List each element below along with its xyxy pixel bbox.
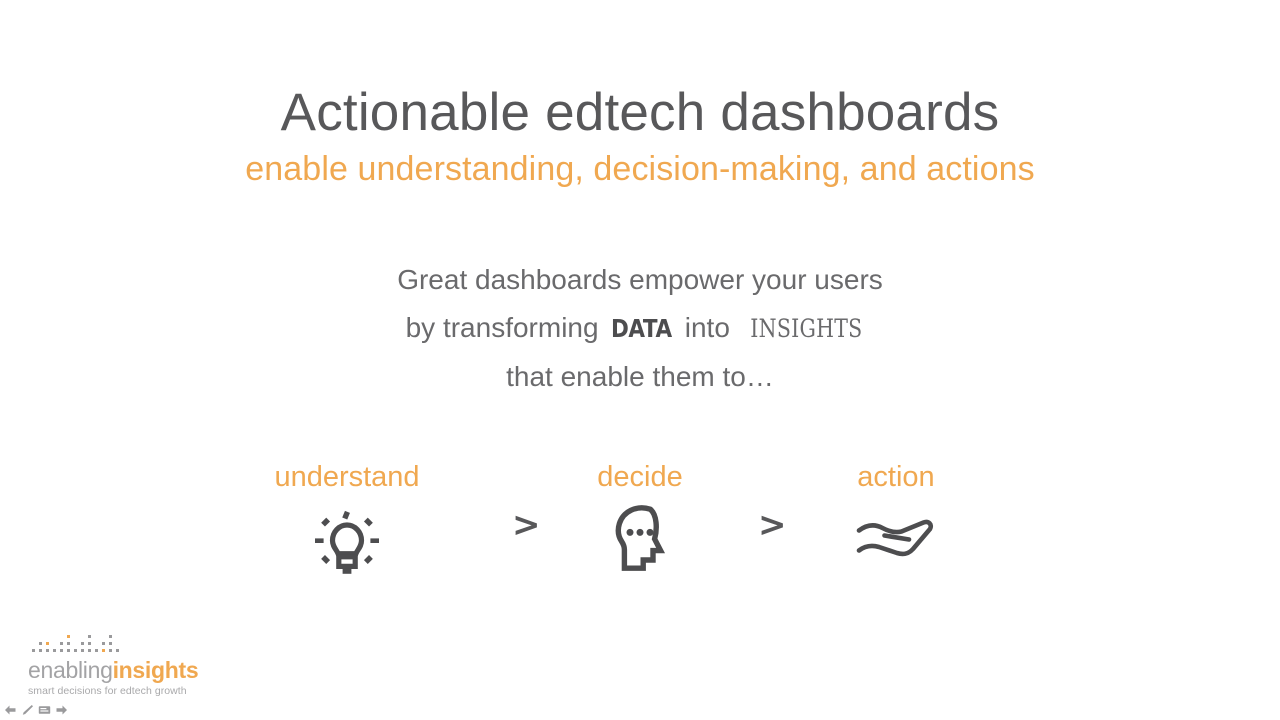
next-arrow-icon[interactable] — [54, 703, 69, 717]
body-block: Great dashboards empower your users by t… — [0, 256, 1280, 401]
process-row: understand — [240, 460, 960, 590]
presentation-toolbar[interactable] — [3, 703, 69, 717]
body-line-2-prefix: by transforming — [406, 312, 607, 343]
process-step-decide: decide — [540, 460, 740, 578]
lightbulb-icon — [247, 500, 447, 578]
process-separator-1: > — [512, 508, 541, 542]
head-profile-icon — [540, 500, 740, 578]
previous-arrow-icon[interactable] — [3, 703, 18, 717]
emphasis-word-insights: INSIGHTS — [750, 305, 862, 353]
process-separator-2: > — [758, 508, 787, 542]
logo-word-insights: insights — [113, 657, 199, 683]
body-line-2: by transforming DATA into INSIGHTS — [0, 304, 1280, 353]
body-line-2-middle: into — [677, 312, 738, 343]
logo-wordmark: enablinginsights — [28, 658, 228, 683]
process-step-action-label: action — [796, 460, 996, 494]
title-block: Actionable edtech dashboards enable unde… — [0, 84, 1280, 189]
page-title: Actionable edtech dashboards — [0, 84, 1280, 141]
page-subtitle: enable understanding, decision-making, a… — [0, 151, 1280, 188]
process-step-understand-label: understand — [247, 460, 447, 494]
process-step-decide-label: decide — [540, 460, 740, 494]
logo-dot-matrix-icon — [30, 630, 126, 654]
logo-tagline: smart decisions for edtech growth — [28, 685, 228, 697]
body-line-1: Great dashboards empower your users — [0, 256, 1280, 304]
body-line-3: that enable them to… — [0, 353, 1280, 401]
process-step-action: action — [796, 460, 996, 578]
pen-icon[interactable] — [20, 703, 35, 717]
notes-icon[interactable] — [37, 703, 52, 717]
process-step-understand: understand — [247, 460, 447, 578]
emphasis-word-data: DATA — [611, 305, 672, 353]
open-hand-icon — [796, 500, 996, 578]
logo-word-enabling: enabling — [28, 657, 113, 683]
brand-logo: enablinginsights smart decisions for edt… — [28, 630, 228, 697]
slide-canvas: Actionable edtech dashboards enable unde… — [0, 0, 1280, 720]
